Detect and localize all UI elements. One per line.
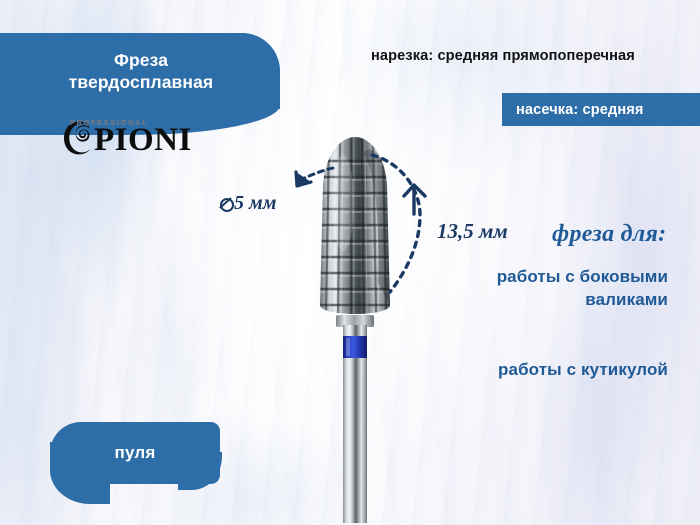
brand-tagline: PROFESSIONAL	[70, 118, 148, 127]
title-line-2: твердосплавная	[69, 71, 213, 93]
shape-tab-label: пуля	[50, 422, 220, 484]
length-label: 13,5 мм	[437, 219, 508, 244]
brand-wordmark: PIONI	[94, 125, 192, 156]
bit-head-highlight	[332, 155, 354, 251]
notch-badge-label: насечка: средняя	[516, 102, 643, 118]
usage-list: работы с боковыми валиками работы с кути…	[430, 266, 668, 382]
cut-type-label: нарезка: средняя прямопоперечная	[371, 48, 635, 64]
usage-heading: фреза для:	[552, 221, 666, 248]
usage-item-1: работы с боковыми валиками	[430, 266, 668, 311]
diameter-value: 5 мм	[234, 192, 276, 214]
diameter-symbol-icon	[219, 197, 232, 210]
bit-grit-band-highlight	[346, 338, 350, 356]
title-banner-text: Фреза твердосплавная	[0, 33, 280, 109]
diameter-label: 5 мм	[219, 192, 276, 215]
notch-badge: насечка: средняя	[502, 93, 700, 126]
title-line-1: Фреза	[114, 49, 168, 71]
carbide-drill-bit-illustration	[300, 133, 410, 525]
product-info-card: Фреза твердосплавная PIONI PROFESSIONAL …	[0, 0, 700, 525]
usage-item-2: работы с кутикулой	[430, 359, 668, 382]
